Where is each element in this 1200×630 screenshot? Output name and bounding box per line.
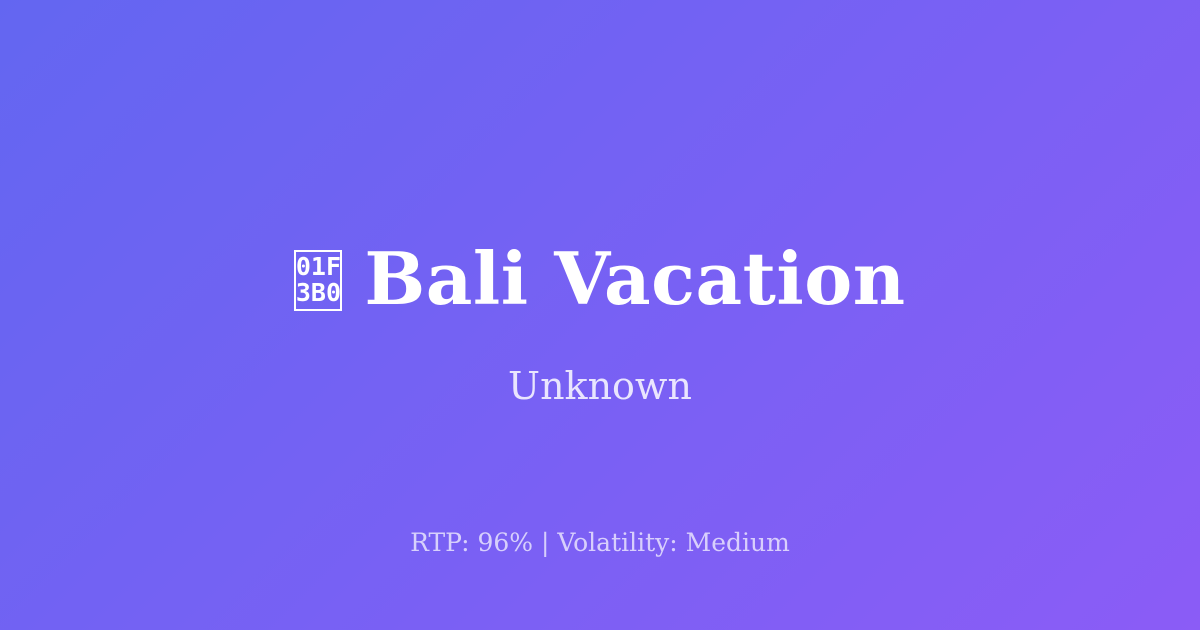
page-title: Bali Vacation	[364, 241, 905, 317]
title-row: 01F 3B0 Bali Vacation	[0, 236, 1200, 322]
game-preview-card: 01F 3B0 Bali Vacation Unknown RTP: 96% |…	[0, 0, 1200, 630]
tofu-codepoint-line-1: 01F	[296, 254, 341, 280]
tofu-codepoint-line-2: 3B0	[296, 280, 341, 306]
game-stats: RTP: 96% | Volatility: Medium	[0, 527, 1200, 559]
slot-machine-icon: 01F 3B0	[294, 250, 342, 311]
provider-name: Unknown	[0, 362, 1200, 410]
